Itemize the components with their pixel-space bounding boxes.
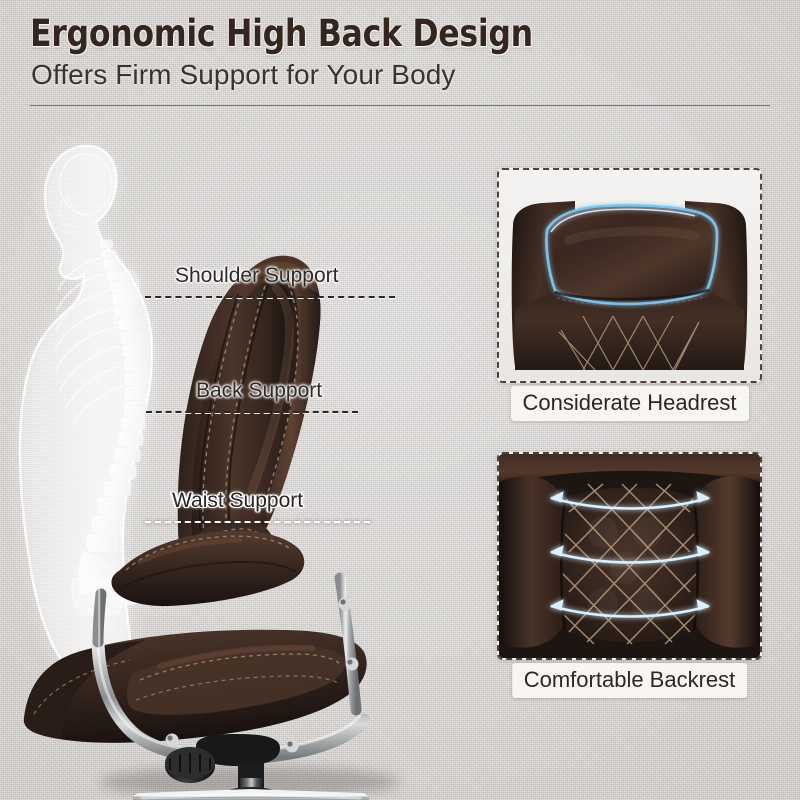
page-subtitle: Offers Firm Support for Your Body: [31, 58, 456, 92]
office-chair-product-photo: [0, 118, 500, 800]
callout-label-back: Back Support: [196, 378, 322, 404]
callout-leader-line-back: [146, 411, 358, 413]
backrest-panel-frame: [497, 452, 762, 660]
headrest-photo: [499, 170, 760, 381]
callout-leader-line-shoulder: [145, 296, 395, 298]
tilt-knob: [165, 747, 215, 783]
infographic-page: Shoulder Support Back Support Waist Supp…: [0, 0, 800, 800]
detail-panel-backrest: Comfortable Backrest: [497, 452, 762, 660]
header-divider: [30, 105, 770, 106]
headrest-panel-frame: [497, 168, 762, 383]
panel-caption-headrest: Considerate Headrest: [510, 386, 748, 421]
panel-caption-backrest: Comfortable Backrest: [512, 663, 748, 698]
callout-label-shoulder: Shoulder Support: [175, 263, 338, 289]
callout-label-waist: Waist Support: [172, 488, 303, 514]
main-product-scene: Shoulder Support Back Support Waist Supp…: [0, 118, 500, 800]
callout-leader-line-waist: [145, 521, 370, 523]
detail-panel-headrest: Considerate Headrest: [497, 168, 762, 383]
backrest-photo: [499, 454, 760, 658]
page-title: Ergonomic High Back Design: [30, 14, 533, 54]
